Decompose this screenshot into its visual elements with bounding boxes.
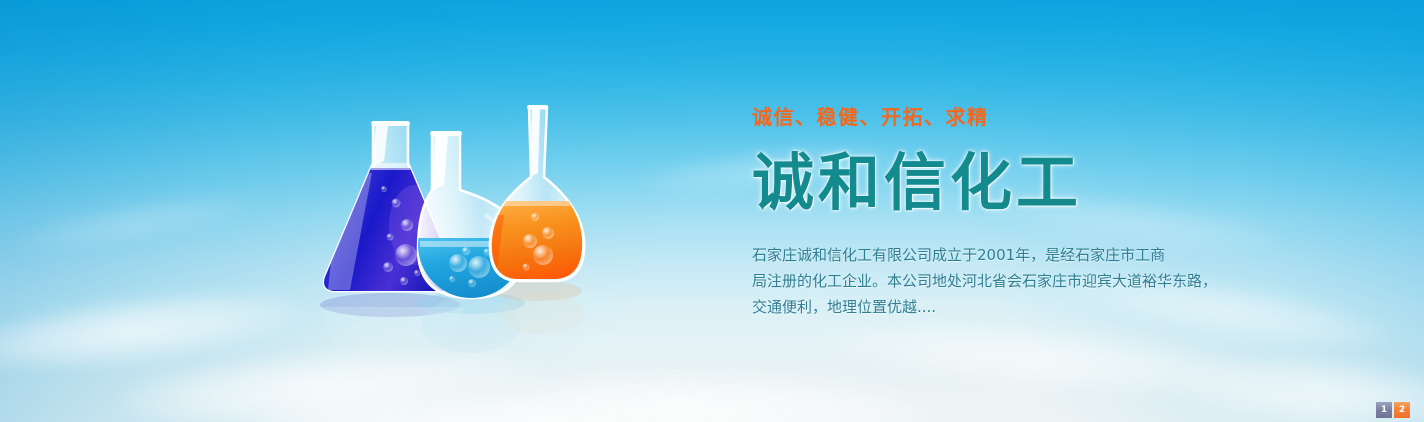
banner-copy: 诚信、稳健、开拓、求精 诚和信化工 石家庄诚和信化工有限公司成立于2001年，是… (752, 104, 1272, 320)
laboratory-flasks-illustration (280, 55, 630, 375)
company-name-heading: 诚和信化工 (752, 146, 1272, 220)
description-line: 石家庄诚和信化工有限公司成立于2001年，是经石家庄市工商 (752, 242, 1272, 268)
pagination-button-1[interactable]: 1 (1376, 402, 1392, 418)
description-line: 交通便利，地理位置优越.... (752, 294, 1272, 320)
hero-banner: 诚信、稳健、开拓、求精 诚和信化工 石家庄诚和信化工有限公司成立于2001年，是… (0, 0, 1424, 422)
pagination-button-2[interactable]: 2 (1394, 402, 1410, 418)
company-description: 石家庄诚和信化工有限公司成立于2001年，是经石家庄市工商 局注册的化工企业。本… (752, 242, 1272, 320)
description-line: 局注册的化工企业。本公司地处河北省会石家庄市迎宾大道裕华东路， (752, 268, 1272, 294)
pear-flask-orange (485, 105, 590, 286)
carousel-pagination: 1 2 (1376, 402, 1410, 418)
banner-tagline: 诚信、稳健、开拓、求精 (752, 104, 1272, 130)
